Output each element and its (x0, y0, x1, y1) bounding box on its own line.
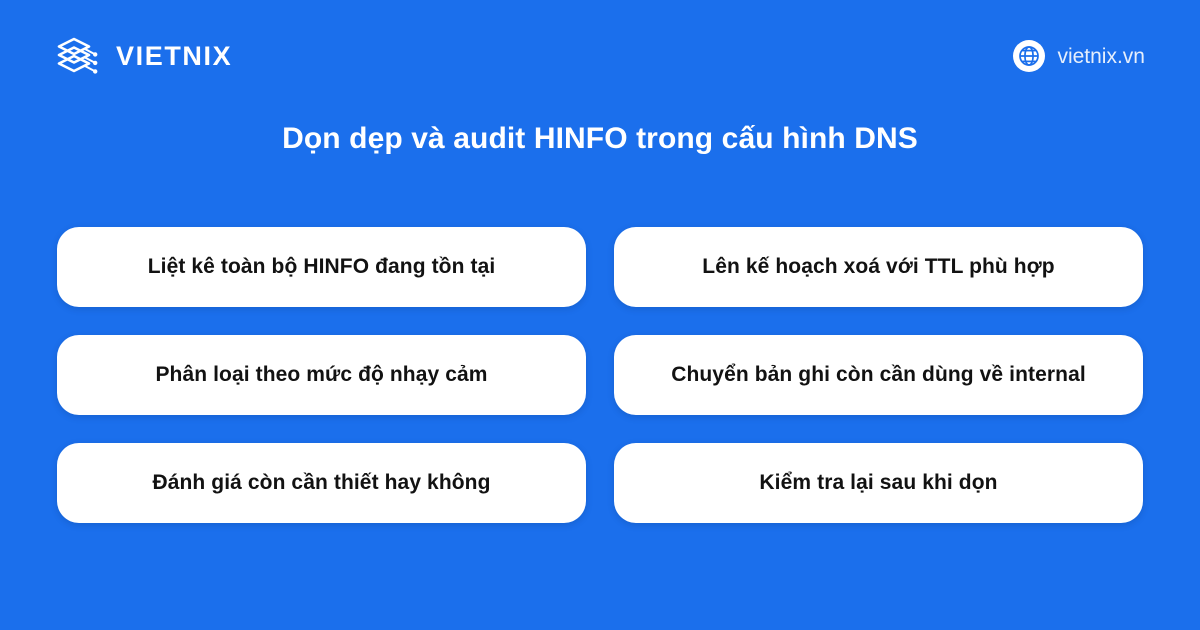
site-url-label: vietnix.vn (1057, 46, 1145, 67)
site-url-badge[interactable]: vietnix.vn (1013, 40, 1145, 72)
checklist-card[interactable]: Chuyển bản ghi còn cần dùng về internal (614, 335, 1143, 415)
checklist-card-label: Kiểm tra lại sau khi dọn (759, 469, 997, 497)
brand-logo[interactable]: VIETNIX (52, 31, 232, 81)
checklist-cards: Liệt kê toàn bộ HINFO đang tồn tại Lên k… (57, 227, 1143, 523)
checklist-card[interactable]: Kiểm tra lại sau khi dọn (614, 443, 1143, 523)
page-title: Dọn dẹp và audit HINFO trong cấu hình DN… (0, 118, 1200, 160)
brand-wordmark: VIETNIX (116, 43, 232, 70)
checklist-card-label: Phân loại theo mức độ nhạy cảm (155, 361, 487, 389)
checklist-card[interactable]: Phân loại theo mức độ nhạy cảm (57, 335, 586, 415)
checklist-card[interactable]: Lên kế hoạch xoá với TTL phù hợp (614, 227, 1143, 307)
checklist-card-label: Lên kế hoạch xoá với TTL phù hợp (702, 253, 1054, 281)
checklist-card[interactable]: Đánh giá còn cần thiết hay không (57, 443, 586, 523)
checklist-card[interactable]: Liệt kê toàn bộ HINFO đang tồn tại (57, 227, 586, 307)
page-header: VIETNIX vietnix.vn (0, 0, 1200, 112)
globe-icon (1013, 40, 1045, 72)
checklist-card-label: Đánh giá còn cần thiết hay không (152, 469, 490, 497)
checklist-card-label: Chuyển bản ghi còn cần dùng về internal (671, 361, 1086, 389)
checklist-card-label: Liệt kê toàn bộ HINFO đang tồn tại (148, 253, 496, 281)
stacked-layers-icon (52, 31, 102, 81)
